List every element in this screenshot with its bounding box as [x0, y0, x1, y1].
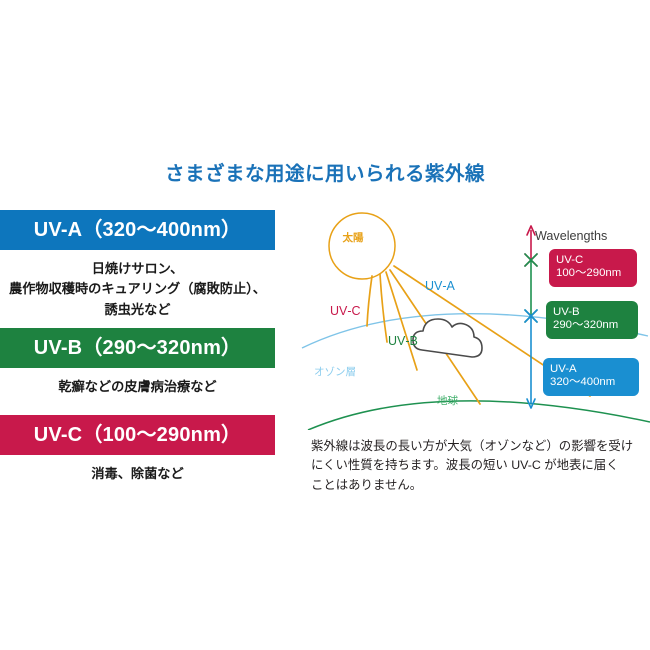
sun-label: 太陽	[342, 231, 364, 244]
uv-c-uses: 消毒、除菌など	[0, 455, 280, 492]
uv-c-uses-line-1: 消毒、除菌など	[0, 464, 280, 484]
earth-label: 地球	[437, 394, 458, 407]
diagram-caption-line-1: 紫外線は波長の長い方が大気（オゾンなど）の影響を受け	[311, 437, 647, 456]
uv-b-band-bar: UV-B（290〜320nm）	[0, 328, 275, 368]
uv-a-uses-line-2: 農作物収穫時のキュアリング（腐敗防止）、	[0, 279, 280, 299]
uv-band-list: UV-A（320〜400nm） 日焼けサロン、 農作物収穫時のキュアリング（腐敗…	[0, 210, 275, 492]
infographic-root: さまざまな用途に用いられる紫外線 UV-A（320〜400nm） 日焼けサロン、…	[0, 0, 650, 650]
uv-b-uses-line-1: 乾癬などの皮膚病治療など	[0, 377, 280, 397]
uv-c-band-bar: UV-C（100〜290nm）	[0, 415, 275, 455]
legend-pill-uv-a-name: UV-A	[550, 363, 632, 376]
earth-surface-arc	[308, 401, 650, 430]
diagram-caption: 紫外線は波長の長い方が大気（オゾンなど）の影響を受け にくい性質を持ちます。波長…	[311, 437, 647, 495]
legend-pill-uv-c-name: UV-C	[556, 254, 630, 267]
legend-pill-uv-a-range: 320〜400nm	[550, 376, 632, 389]
cloud-icon	[413, 319, 482, 357]
legend-pill-uv-c-range: 100〜290nm	[556, 267, 630, 280]
uv-a-uses: 日焼けサロン、 農作物収穫時のキュアリング（腐敗防止）、 誘虫光など	[0, 250, 280, 328]
diagram-caption-line-3: ことはありません。	[311, 476, 647, 495]
uv-a-uses-line-3: 誘虫光など	[0, 300, 280, 320]
uv-c-ray	[367, 276, 372, 326]
sun-icon	[329, 213, 395, 279]
diagram-caption-line-2: にくい性質を持ちます。波長の短い UV-C が地表に届く	[311, 456, 647, 475]
legend-pill-uv-c: UV-C 100〜290nm	[549, 249, 637, 287]
legend-pill-uv-b: UV-B 290〜320nm	[546, 301, 638, 339]
uv-a-uses-line-1: 日焼けサロン、	[0, 259, 280, 279]
legend-pill-uv-b-name: UV-B	[553, 306, 631, 319]
page-title: さまざまな用途に用いられる紫外線	[0, 157, 650, 186]
uv-a-band-bar: UV-A（320〜400nm）	[0, 210, 275, 250]
wavelengths-title: Wavelengths	[535, 229, 607, 243]
uv-b-ray	[380, 274, 387, 342]
legend-pill-uv-a: UV-A 320〜400nm	[543, 358, 639, 396]
ray-label-uv-a: UV‑A	[425, 279, 456, 293]
ray-label-uv-c: UV‑C	[330, 304, 361, 318]
uv-b-uses: 乾癬などの皮膚病治療など	[0, 368, 280, 405]
ozone-label: オゾン層	[314, 366, 356, 378]
ray-label-uv-b: UV‑B	[388, 334, 418, 348]
legend-pill-uv-b-range: 290〜320nm	[553, 319, 631, 332]
